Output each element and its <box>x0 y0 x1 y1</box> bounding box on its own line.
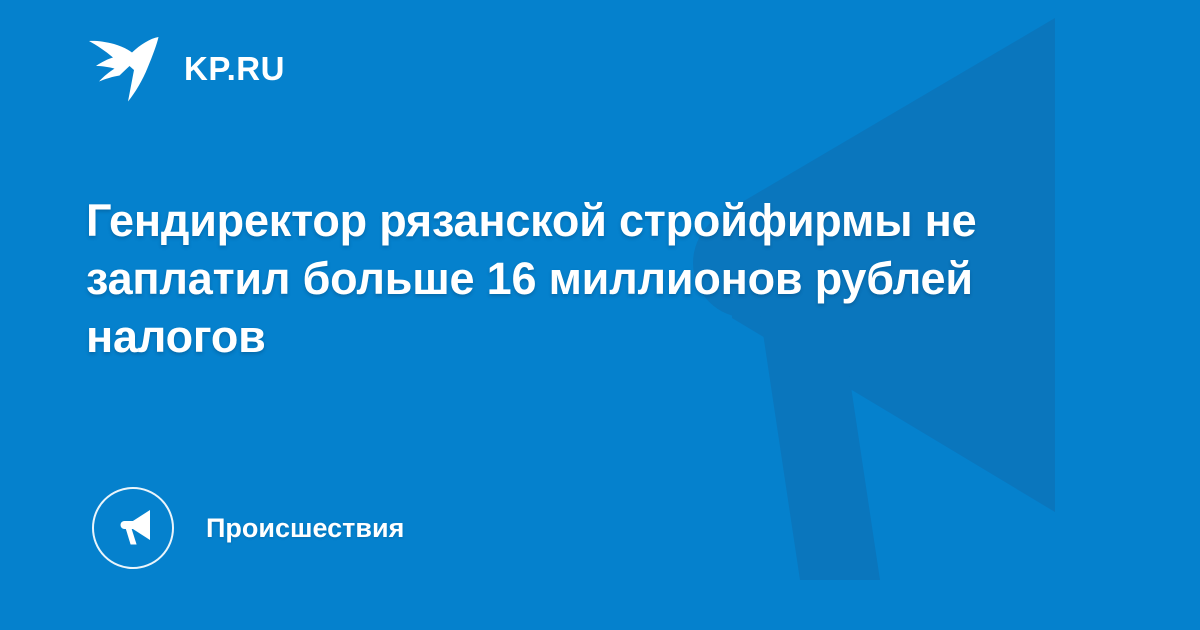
news-share-card: KP.RU Гендиректор рязанской стройфирмы н… <box>0 0 1200 630</box>
rubric-badge <box>92 487 174 569</box>
page-title: Гендиректор рязанской стройфирмы не запл… <box>86 192 1086 366</box>
brand-logo[interactable]: KP.RU <box>88 34 285 104</box>
rubric[interactable]: Происшествия <box>92 486 404 570</box>
swallow-bird-icon <box>88 35 162 103</box>
brand-wordmark: KP.RU <box>184 52 285 87</box>
rubric-label: Происшествия <box>206 515 404 542</box>
